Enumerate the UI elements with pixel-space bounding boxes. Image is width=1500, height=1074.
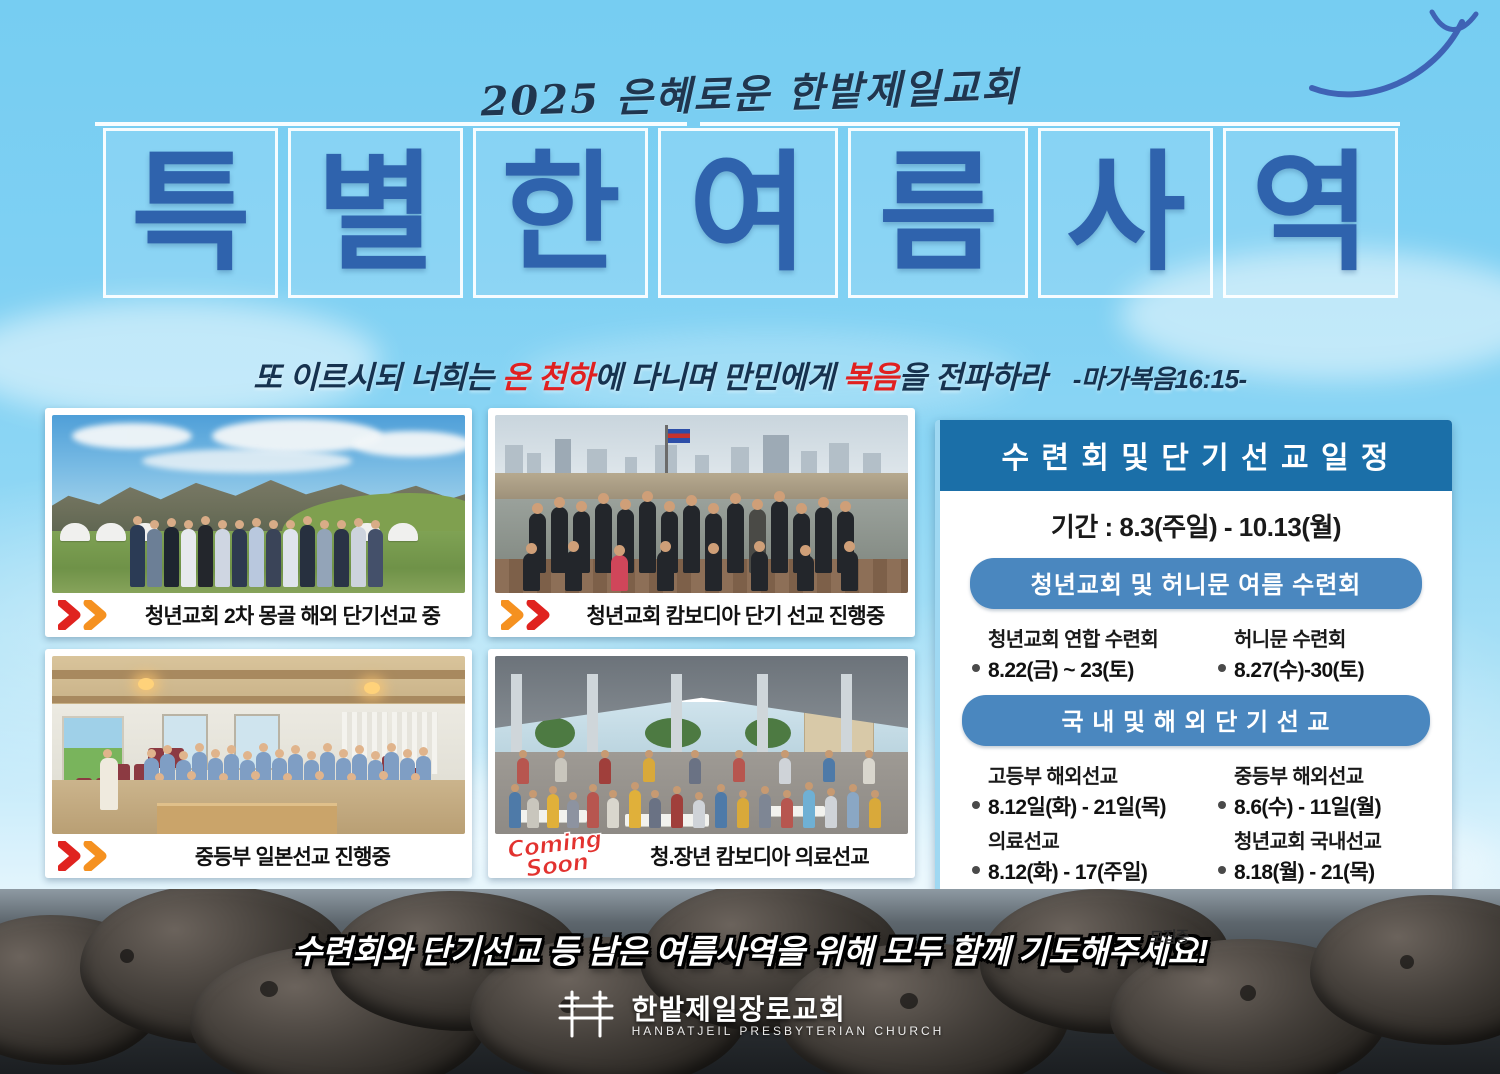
chevron-icon [501, 600, 563, 630]
schedule-col-left: 청년교회 연합 수련회 8.22(금) ~ 23(토) [958, 619, 1196, 687]
schedule-col-right: 허니문 수련회 8.27(수)-30(토) [1196, 619, 1434, 687]
title-char: 역 [1251, 148, 1369, 278]
photo-card-japan[interactable]: 중등부 일본선교 진행중 [45, 649, 472, 878]
title-rule-right [700, 122, 1400, 126]
recruiting-text: 모집중 [1150, 926, 1188, 947]
title-char: 별 [316, 148, 434, 278]
poster-root: 2025 은혜로운 한밭제일교회 특 별 한 여 름 사 역 또 이르시되 너희… [0, 0, 1500, 1074]
title-char-box: 별 [288, 128, 463, 298]
bullet-icon [1218, 664, 1226, 672]
title-char-box: 한 [473, 128, 648, 298]
verse-reference: -마가복음16:15- [1073, 364, 1247, 394]
bible-verse: 또 이르시되 너희는 온 천하에 다니며 만민에게 복음을 전파하라-마가복음1… [0, 352, 1500, 397]
rock-band-background [0, 889, 1500, 1074]
title-char-box: 여 [658, 128, 838, 298]
logo-korean-name: 한밭제일장로교회 [632, 995, 846, 1024]
event-title: 중등부 해외선교 [1234, 760, 1434, 789]
event-date: 8.18(월) - 21(목) [1234, 856, 1375, 886]
event-line: 8.27(수)-30(토) [1218, 654, 1434, 684]
church-logo: 한밭제일장로교회 HANBATJEIL PRESBYTERIAN CHURCH [0, 988, 1500, 1045]
verse-part-3: 을 전파하라 [899, 360, 1047, 395]
event-line: 8.18(월) - 21(목) [1218, 856, 1434, 886]
photo-japan [52, 656, 465, 834]
title-char-box: 특 [103, 128, 278, 298]
title-char-box: 사 [1038, 128, 1213, 298]
verse-part-1: 또 이르시되 너희는 [253, 360, 502, 395]
title-char-box: 역 [1223, 128, 1398, 298]
schedule-period: 기간 : 8.3(주일) - 10.13(월) [940, 491, 1452, 552]
logo-english-name: HANBATJEIL PRESBYTERIAN CHURCH [632, 1024, 945, 1038]
title-char-box: 름 [848, 128, 1028, 298]
event-line: 8.12(화) - 17(주일) [972, 856, 1196, 886]
title-char: 한 [501, 148, 619, 278]
photo-caption-japan: 중등부 일본선교 진행중 [52, 834, 465, 878]
event-title: 고등부 해외선교 [988, 760, 1196, 789]
photo-medical [495, 656, 908, 834]
schedule-panel: 수 련 회 및 단 기 선 교 일 정 기간 : 8.3(주일) - 10.13… [935, 420, 1452, 969]
photo-caption-mongolia: 청년교회 2차 몽골 해외 단기선교 중 [52, 593, 465, 637]
schedule-section-pill-2: 국 내 및 해 외 단 기 선 교 [962, 695, 1430, 746]
event-title: 의료선교 [988, 825, 1196, 854]
bullet-icon [1218, 801, 1226, 809]
caption-text: 청년교회 캄보디아 단기 선교 진행중 [569, 600, 902, 630]
title-char: 사 [1066, 148, 1184, 278]
verse-part-2: 에 다니며 만민에게 [594, 360, 843, 395]
coming-soon-badge: Coming Soon [499, 827, 614, 884]
schedule-section-pill-1: 청년교회 및 허니문 여름 수련회 [970, 558, 1422, 609]
event-title: 청년교회 연합 수련회 [988, 623, 1196, 652]
event-date: 8.12(화) - 17(주일) [988, 856, 1147, 886]
photo-card-mongolia[interactable]: 청년교회 2차 몽골 해외 단기선교 중 [45, 408, 472, 637]
event-line: 8.6(수) - 11일(월) [1218, 791, 1434, 821]
event-title: 청년교회 국내선교 [1234, 825, 1434, 854]
event-title: 허니문 수련회 [1234, 623, 1434, 652]
photo-row-bottom: 중등부 일본선교 진행중 [45, 649, 915, 878]
caption-text: 청년교회 2차 몽골 해외 단기선교 중 [126, 600, 459, 630]
event-date: 8.12일(화) - 21일(목) [988, 791, 1166, 821]
title-char: 여 [689, 148, 807, 278]
main-title: 특 별 한 여 름 사 역 [0, 128, 1500, 298]
bullet-icon [1218, 866, 1226, 874]
title-rule-left [95, 122, 687, 126]
photo-caption-medical: Coming Soon 청.장년 캄보디아 의료선교 [495, 834, 908, 878]
title-char: 름 [879, 148, 997, 278]
prayer-message: 수련회와 단기선교 등 남은 여름사역을 위해 모두 함께 기도해주세요! [0, 925, 1500, 973]
verse-highlight-1: 온 천하 [502, 360, 594, 395]
photo-mongolia [52, 415, 465, 593]
chevron-icon [58, 600, 120, 630]
photo-card-cambodia[interactable]: 청년교회 캄보디아 단기 선교 진행중 [488, 408, 915, 637]
photo-cambodia [495, 415, 908, 593]
bullet-icon [972, 866, 980, 874]
bullet-icon [972, 664, 980, 672]
event-line: 8.22(금) ~ 23(토) [972, 654, 1196, 684]
schedule-header: 수 련 회 및 단 기 선 교 일 정 [940, 420, 1452, 491]
event-date: 8.27(수)-30(토) [1234, 654, 1364, 684]
event-date: 8.22(금) ~ 23(토) [988, 654, 1134, 684]
photo-caption-cambodia: 청년교회 캄보디아 단기 선교 진행중 [495, 593, 908, 637]
photo-card-grid: 청년교회 2차 몽골 해외 단기선교 중 [45, 408, 915, 878]
chevron-icon [58, 841, 120, 871]
event-line: 8.12일(화) - 21일(목) [972, 791, 1196, 821]
cross-icon [556, 988, 618, 1045]
photo-row-top: 청년교회 2차 몽골 해외 단기선교 중 [45, 408, 915, 637]
photo-card-medical[interactable]: Coming Soon 청.장년 캄보디아 의료선교 [488, 649, 915, 878]
verse-highlight-2: 복음 [842, 360, 898, 395]
schedule-section-1-columns: 청년교회 연합 수련회 8.22(금) ~ 23(토) 허니문 수련회 8.27… [940, 613, 1452, 689]
event-date: 8.6(수) - 11일(월) [1234, 791, 1381, 821]
caption-text: 중등부 일본선교 진행중 [126, 841, 459, 871]
caption-text: 청.장년 캄보디아 의료선교 [617, 841, 902, 871]
bullet-icon [972, 801, 980, 809]
title-char: 특 [131, 148, 249, 278]
